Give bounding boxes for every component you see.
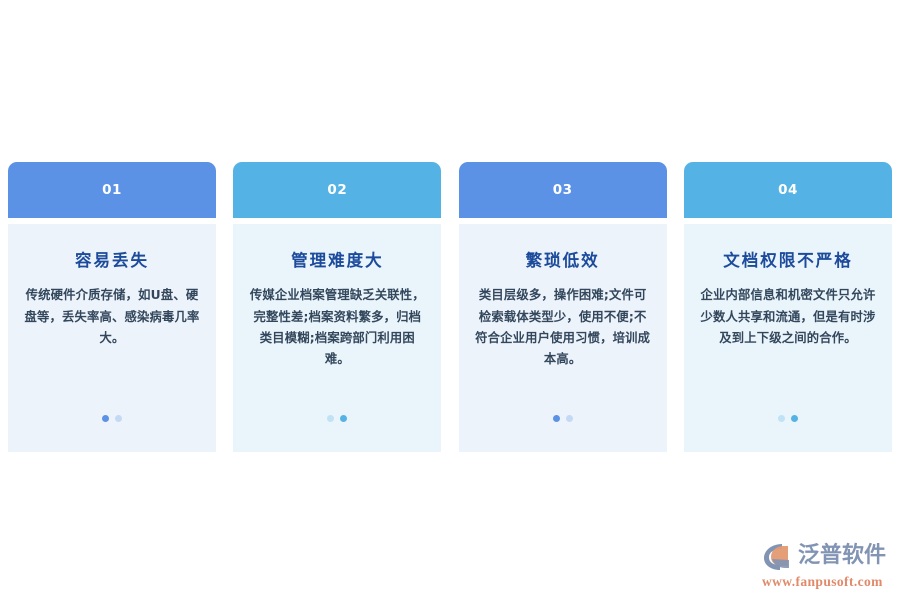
fanpu-logo-icon xyxy=(762,541,796,571)
feature-card-02[interactable]: 02 管理难度大 传媒企业档案管理缺乏关联性，完整性差;档案资料繁多，归档类目模… xyxy=(233,162,441,452)
card-dots-04 xyxy=(684,415,892,422)
card-text-02: 传媒企业档案管理缺乏关联性，完整性差;档案资料繁多，归档类目模糊;档案跨部门利用… xyxy=(245,285,429,370)
logo-url-text: www.fanpusoft.com xyxy=(762,574,892,590)
dot-indicator[interactable] xyxy=(340,415,347,422)
feature-cards-row: 01 容易丢失 传统硬件介质存储，如U盘、硬盘等，丢失率高、感染病毒几率大。 0… xyxy=(8,162,892,452)
card-body-01: 容易丢失 传统硬件介质存储，如U盘、硬盘等，丢失率高、感染病毒几率大。 xyxy=(8,224,216,452)
card-header-01: 01 xyxy=(8,162,216,218)
dot-indicator[interactable] xyxy=(791,415,798,422)
logo-brand-text: 泛普软件 xyxy=(798,545,886,567)
card-body-03: 繁琐低效 类目层级多，操作困难;文件可检索载体类型少，使用不便;不符合企业用户使… xyxy=(459,224,667,452)
feature-card-04[interactable]: 04 文档权限不严格 企业内部信息和机密文件只允许少数人共享和流通，但是有时涉及… xyxy=(684,162,892,452)
feature-card-01[interactable]: 01 容易丢失 传统硬件介质存储，如U盘、硬盘等，丢失率高、感染病毒几率大。 xyxy=(8,162,216,452)
card-body-04: 文档权限不严格 企业内部信息和机密文件只允许少数人共享和流通，但是有时涉及到上下… xyxy=(684,224,892,452)
dot-indicator[interactable] xyxy=(553,415,560,422)
card-title-04: 文档权限不严格 xyxy=(723,250,853,271)
card-dots-03 xyxy=(459,415,667,422)
card-header-03: 03 xyxy=(459,162,667,218)
logo-row: 泛普软件 xyxy=(762,540,892,572)
card-title-03: 繁琐低效 xyxy=(526,250,600,271)
card-text-03: 类目层级多，操作困难;文件可检索载体类型少，使用不便;不符合企业用户使用习惯，培… xyxy=(471,285,655,370)
feature-card-03[interactable]: 03 繁琐低效 类目层级多，操作困难;文件可检索载体类型少，使用不便;不符合企业… xyxy=(459,162,667,452)
card-title-02: 管理难度大 xyxy=(291,250,384,271)
dot-indicator[interactable] xyxy=(102,415,109,422)
card-number-04: 04 xyxy=(778,182,798,198)
card-dots-01 xyxy=(8,415,216,422)
dot-indicator[interactable] xyxy=(327,415,334,422)
card-text-01: 传统硬件介质存储，如U盘、硬盘等，丢失率高、感染病毒几率大。 xyxy=(20,285,204,348)
dot-indicator[interactable] xyxy=(115,415,122,422)
card-text-04: 企业内部信息和机密文件只允许少数人共享和流通，但是有时涉及到上下级之间的合作。 xyxy=(696,285,880,348)
card-title-01: 容易丢失 xyxy=(75,250,149,271)
card-number-03: 03 xyxy=(553,182,573,198)
dot-indicator[interactable] xyxy=(566,415,573,422)
card-header-02: 02 xyxy=(233,162,441,218)
card-number-01: 01 xyxy=(102,182,122,198)
card-dots-02 xyxy=(233,415,441,422)
watermark-logo: 泛普软件 www.fanpusoft.com xyxy=(762,540,892,592)
card-number-02: 02 xyxy=(327,182,347,198)
card-body-02: 管理难度大 传媒企业档案管理缺乏关联性，完整性差;档案资料繁多，归档类目模糊;档… xyxy=(233,224,441,452)
dot-indicator[interactable] xyxy=(778,415,785,422)
card-header-04: 04 xyxy=(684,162,892,218)
